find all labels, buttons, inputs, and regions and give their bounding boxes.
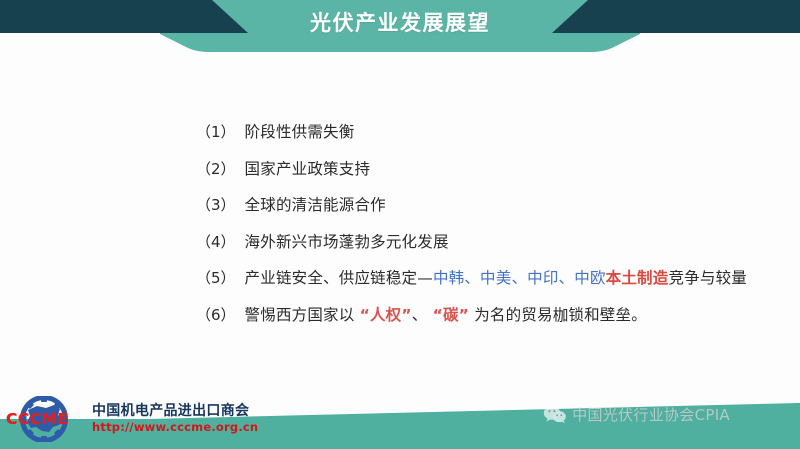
- text-segment: 海外新兴市场蓬勃多元化发展: [245, 233, 449, 251]
- wechat-icon: [543, 405, 567, 424]
- list-item-number: （2）: [196, 159, 236, 180]
- cccme-url[interactable]: http://www.cccme.org.cn: [92, 420, 258, 435]
- text-segment: 阶段性供需失衡: [245, 123, 355, 141]
- slide-content: （1）阶段性供需失衡（2）国家产业政策支持（3）全球的清洁能源合作（4）海外新兴…: [0, 62, 800, 382]
- list-item-number: （6）: [196, 305, 236, 326]
- text-segment: “碳”: [433, 306, 469, 324]
- list-item-number: （5）: [196, 268, 236, 289]
- list-item: （2）国家产业政策支持: [196, 159, 796, 180]
- list-item: （1）阶段性供需失衡: [196, 122, 796, 143]
- list-item: （6）警惕西方国家以 “人权”、 “碳” 为名的贸易枷锁和壁垒。: [196, 305, 796, 326]
- text-segment: 竞争与较量: [668, 269, 747, 287]
- text-segment: 本土制造: [606, 269, 669, 287]
- text-segment: 国家产业政策支持: [245, 160, 371, 178]
- list-item-number: （1）: [196, 122, 236, 143]
- list-item-text: 阶段性供需失衡: [245, 122, 355, 143]
- list-item-text: 警惕西方国家以 “人权”、 “碳” 为名的贸易枷锁和壁垒。: [245, 305, 647, 326]
- text-segment: 警惕西方国家以: [245, 306, 360, 324]
- list-item: （3）全球的清洁能源合作: [196, 195, 796, 216]
- text-segment: 中韩、中美、中印、中欧: [433, 269, 606, 287]
- cccme-logo: CCCME 中国机电产品进出口商会 http://www.cccme.org.c…: [4, 395, 249, 443]
- list-item-text: 产业链安全、供应链稳定—中韩、中美、中印、中欧本土制造竞争与较量: [245, 268, 747, 289]
- text-segment: 全球的清洁能源合作: [245, 196, 386, 214]
- list-item-text: 国家产业政策支持: [245, 159, 371, 180]
- list-item: （5）产业链安全、供应链稳定—中韩、中美、中印、中欧本土制造竞争与较量: [196, 268, 796, 289]
- list-item-number: （4）: [196, 232, 236, 253]
- cpia-label: 中国光伏行业协会CPIA: [572, 404, 730, 425]
- list-item-number: （3）: [196, 195, 236, 216]
- list-item-text: 海外新兴市场蓬勃多元化发展: [245, 232, 449, 253]
- cccme-acronym: CCCME: [6, 410, 69, 428]
- slide-footer: CCCME 中国机电产品进出口商会 http://www.cccme.org.c…: [0, 381, 800, 449]
- bullet-list: （1）阶段性供需失衡（2）国家产业政策支持（3）全球的清洁能源合作（4）海外新兴…: [196, 122, 796, 341]
- slide-root: 光伏产业发展展望 （1）阶段性供需失衡（2）国家产业政策支持（3）全球的清洁能源…: [0, 0, 800, 449]
- list-item-text: 全球的清洁能源合作: [245, 195, 386, 216]
- text-segment: 为名的贸易枷锁和壁垒。: [469, 306, 647, 324]
- cccme-name: 中国机电产品进出口商会: [92, 403, 258, 419]
- list-item: （4）海外新兴市场蓬勃多元化发展: [196, 232, 796, 253]
- cccme-textblock: 中国机电产品进出口商会 http://www.cccme.org.cn: [90, 403, 258, 435]
- gear-map-logo-icon: CCCME: [4, 396, 90, 442]
- page-title: 光伏产业发展展望: [0, 8, 800, 38]
- text-segment: 产业链安全、供应链稳定—: [245, 269, 433, 287]
- slide-header: 光伏产业发展展望: [0, 0, 800, 62]
- text-segment: “人权”: [360, 306, 412, 324]
- cpia-watermark: 中国光伏行业协会CPIA: [543, 404, 730, 425]
- text-segment: 、: [412, 306, 433, 324]
